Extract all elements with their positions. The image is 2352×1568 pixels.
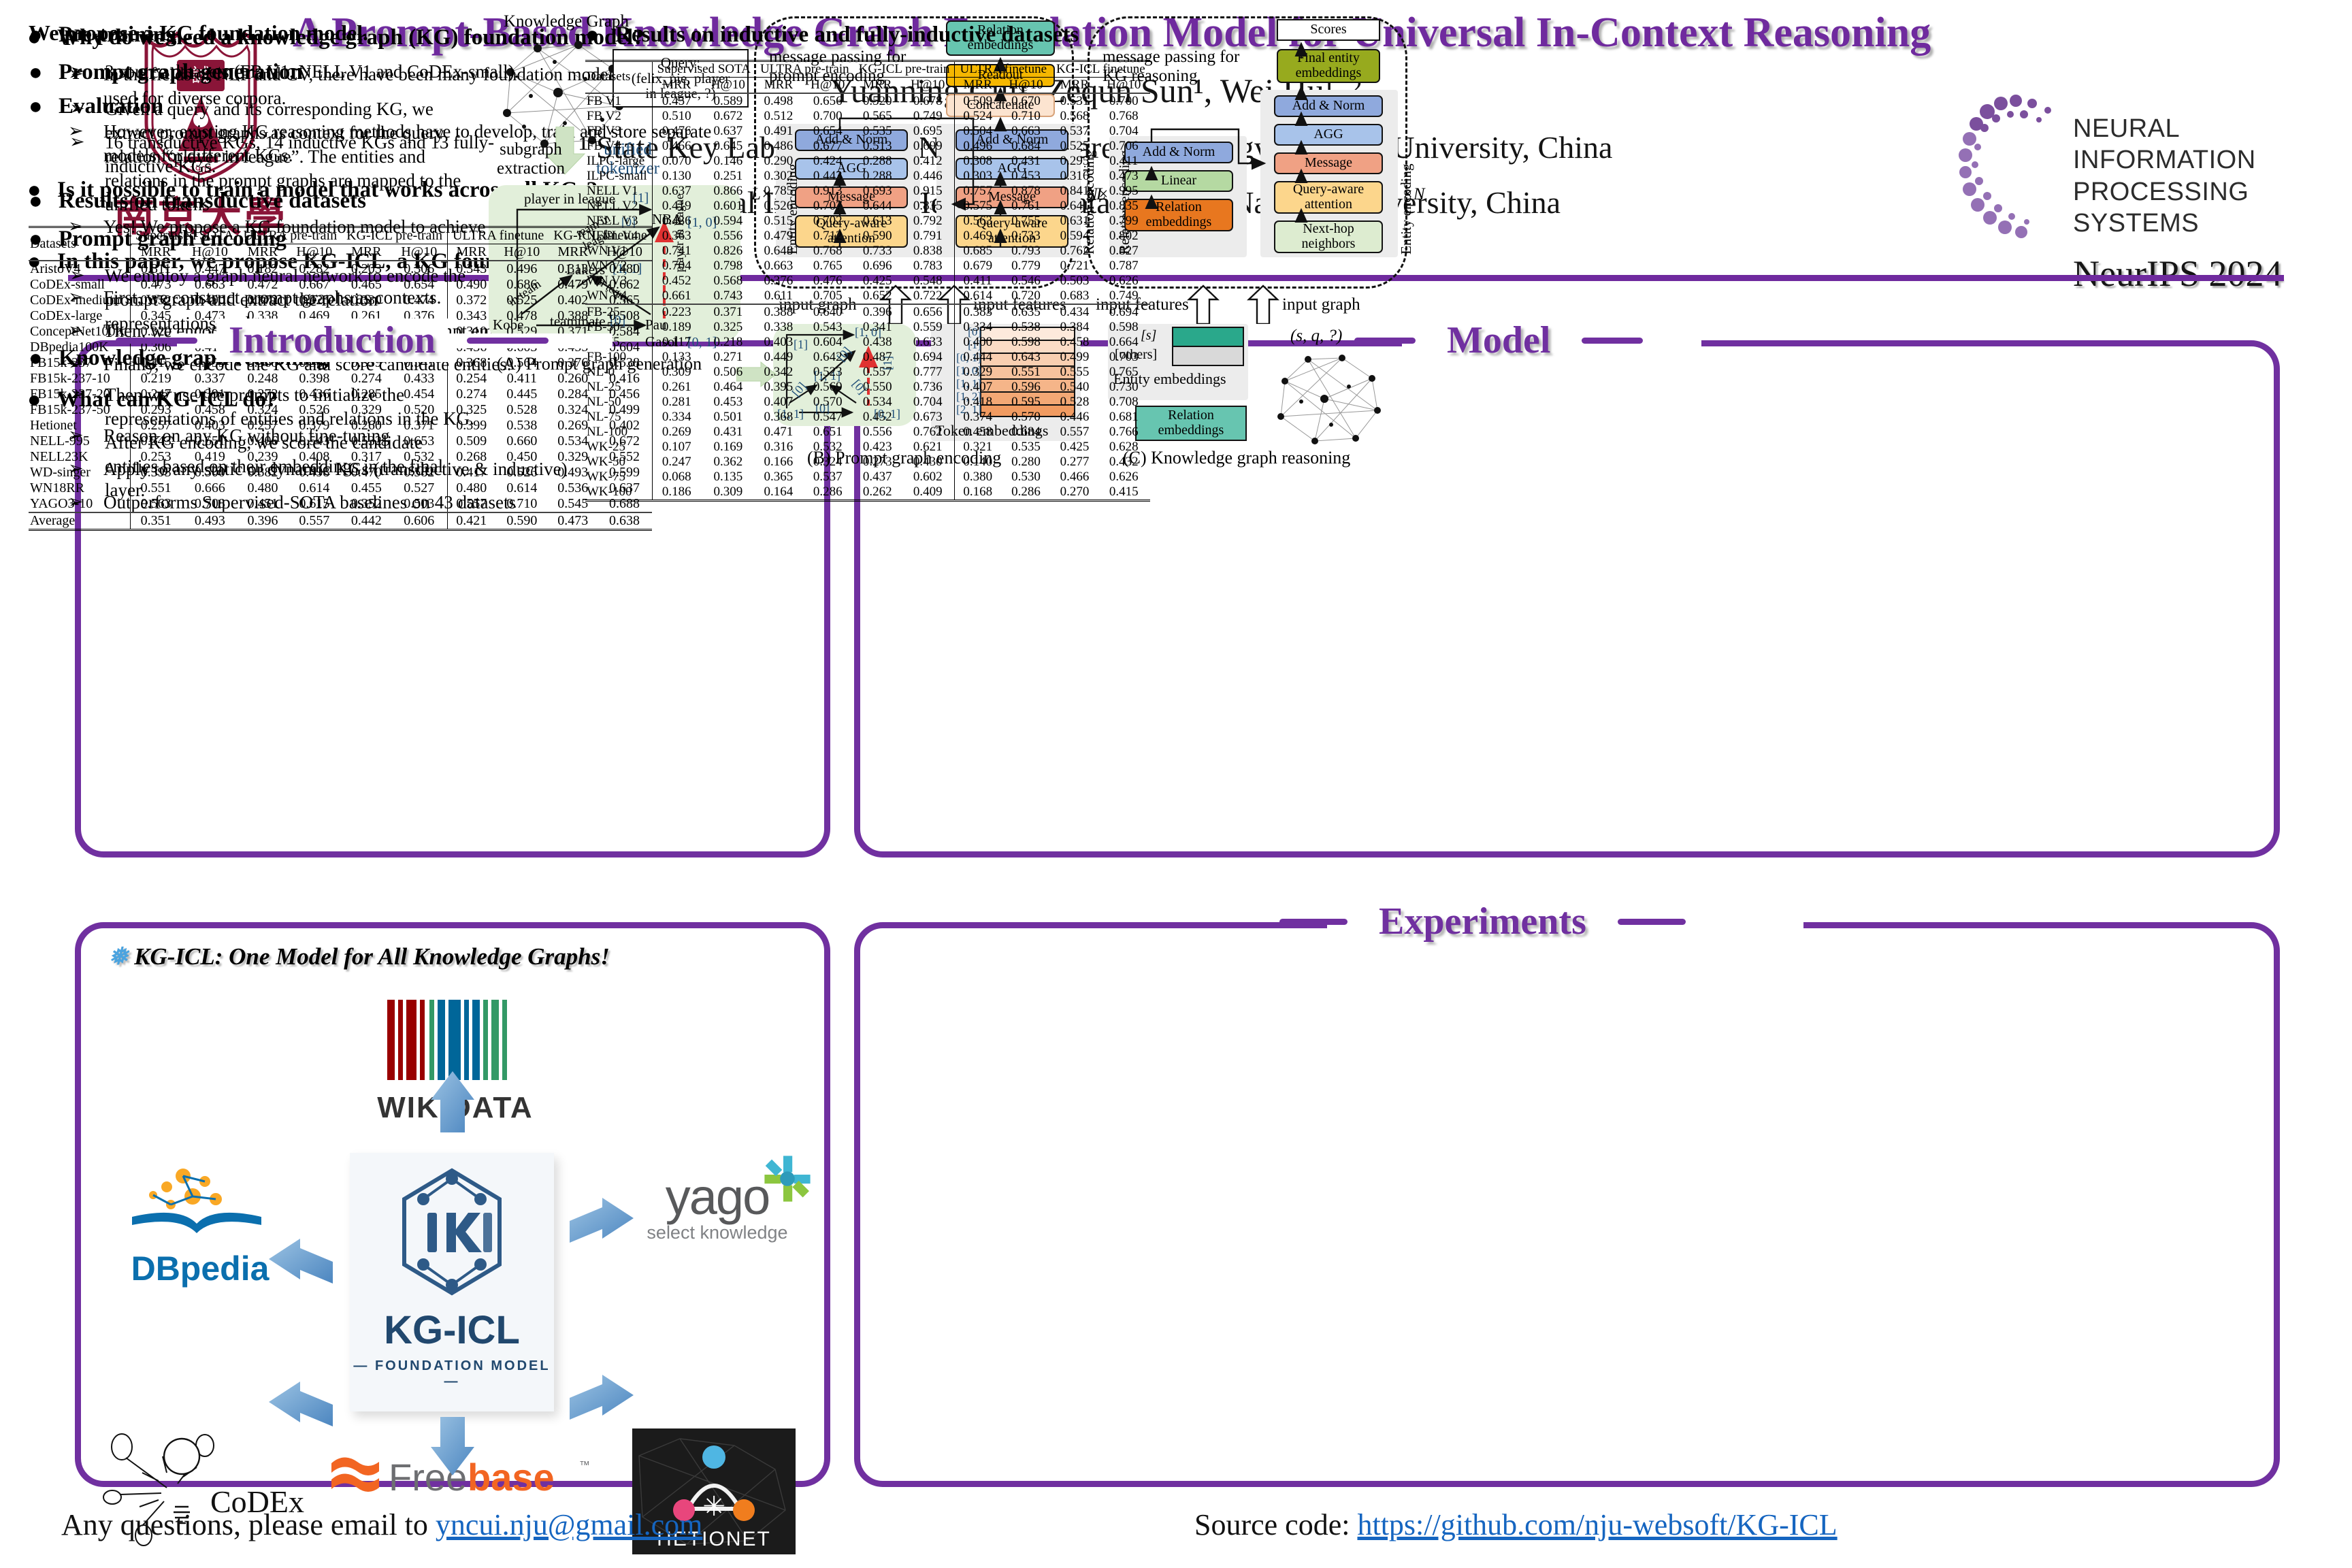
exp-sub-bullet: ➢3 source datasets (FB V1, NELL V1 and C… — [69, 60, 559, 84]
table-cell: 0.667 — [287, 277, 342, 293]
table-row: FB V10.4570.5890.4980.6560.5200.6780.509… — [585, 93, 1150, 109]
neurips-year: NeurIPS 2024 — [2073, 252, 2345, 295]
table-cell: 0.384 — [1051, 320, 1098, 335]
exp-bullet: ●Results on transductive datasets — [29, 188, 559, 215]
experiments-left-column: ●Pre-training ➢3 source datasets (FB V1,… — [29, 22, 559, 531]
table-cell: 0.452 — [854, 410, 901, 425]
table-cell: 0.472 — [239, 277, 287, 293]
table-cell: 0.520 — [391, 402, 448, 418]
table-cell: 0.664 — [1098, 335, 1150, 350]
table-cell: 0.372 — [447, 293, 495, 308]
table-cell: 0.766 — [1098, 425, 1150, 440]
table-cell: 0.654 — [802, 124, 854, 139]
table-cell: 0.835 — [1098, 199, 1150, 214]
table-cell: 0.791 — [901, 229, 955, 244]
table-row: FB15k-237-100.2190.3370.2480.3980.2740.4… — [29, 371, 652, 387]
table-cell: 0.568 — [701, 274, 755, 289]
table-cell: 0.247 — [652, 455, 701, 470]
table-cell: 0.425 — [854, 274, 901, 289]
table-cell: 0.480 — [447, 480, 495, 496]
arrow-bullet-icon: ➢ — [69, 131, 105, 178]
table-cell: 0.615 — [287, 496, 342, 512]
table-cell: 0.645 — [701, 139, 755, 154]
table-cell: 0.686 — [495, 277, 549, 293]
table-cell: 0.500 — [181, 465, 238, 480]
table-cell: 0.504 — [955, 124, 1000, 139]
table-cell: 0.133 — [652, 350, 701, 365]
table-cell: 0.535 — [854, 124, 901, 139]
experiments-heading: Experiments — [1367, 900, 1599, 943]
table-row: FB V30.4760.6370.4910.6540.5350.6950.504… — [585, 124, 1150, 139]
column-group-header: KG-ICL finetune — [1051, 61, 1150, 77]
dbpedia-label: DBpedia — [108, 1249, 292, 1288]
table-cell: 0.419 — [652, 199, 701, 214]
table-cell: 0.798 — [701, 259, 755, 274]
table-cell: 0.596 — [1000, 380, 1051, 395]
table-cell: 0.325 — [701, 320, 755, 335]
table-cell: 0.637 — [701, 124, 755, 139]
table-row: AristoV40.3110.4470.1820.2820.2030.3060.… — [29, 261, 652, 277]
table-cell: 0.548 — [901, 274, 955, 289]
svg-text:™: ™ — [579, 1460, 590, 1471]
table-cell: 0.262 — [854, 485, 901, 501]
row-label: FB-100 — [585, 350, 652, 365]
table-row: Hetionet0.2570.4030.2570.3790.2600.3710.… — [29, 418, 652, 434]
table-cell: 0.169 — [701, 440, 755, 455]
table-cell: 0.288 — [854, 169, 901, 184]
column-group-header: ULTRA pre-train — [239, 227, 342, 244]
table-cell: 0.417 — [447, 465, 495, 480]
table-cell: 0.135 — [701, 470, 755, 485]
table-cell: 0.640 — [802, 304, 854, 320]
table-row: NL-250.2610.4640.3950.5690.5500.7360.407… — [585, 380, 1150, 395]
table-cell: 0.546 — [1000, 274, 1051, 289]
bullet-dot-icon: ● — [29, 93, 59, 120]
column-header-metric: H@10 — [391, 244, 448, 261]
table-cell: 0.396 — [239, 512, 287, 530]
exp-sub-bullet: ➢16 transductive KGs, 14 inductive KGs a… — [69, 131, 559, 178]
table-cell: 0.761 — [1000, 199, 1051, 214]
table-cell: 0.559 — [901, 320, 955, 335]
intro-rule-right — [467, 338, 549, 344]
table-cell: 0.445 — [495, 387, 549, 402]
exp-sub-text: 3 source datasets (FB V1, NELL V1 and Co… — [105, 60, 519, 84]
table-cell: 0.526 — [495, 465, 549, 480]
table-cell: 0.274 — [447, 387, 495, 402]
introduction-heading: Introduction — [216, 318, 448, 362]
table-cell: 0.449 — [755, 350, 802, 365]
table-cell: 0.525 — [1051, 139, 1098, 154]
table-cell: 0.317 — [342, 449, 391, 465]
table-cell: 0.487 — [854, 350, 901, 365]
table-cell: 0.374 — [955, 410, 1000, 425]
table-cell: 0.762 — [1051, 244, 1098, 259]
experiments-panel — [854, 922, 2280, 1487]
table-cell: 0.406 — [239, 434, 287, 449]
transductive-results-table: DatasetsSupervised SOTAULTRA pre-trainKG… — [29, 226, 652, 531]
table-cell: 0.557 — [287, 512, 342, 530]
table-cell: 0.768 — [1098, 109, 1150, 124]
table-cell: 0.334 — [652, 410, 701, 425]
table-cell: 0.503 — [1051, 274, 1098, 289]
column-header-metric: MRR — [239, 244, 287, 261]
row-label: WK-100 — [585, 485, 652, 501]
column-header-metric: MRR — [447, 244, 495, 261]
row-label: NELL V1 — [585, 184, 652, 199]
table-row: NELL23K0.2530.4190.2390.4080.3170.5320.2… — [29, 449, 652, 465]
table-cell: 0.446 — [901, 169, 955, 184]
table-cell: 0.454 — [391, 387, 448, 402]
table-cell: 0.303 — [955, 169, 1000, 184]
table-cell: 0.913 — [802, 184, 854, 199]
column-group-header: Supervised SOTA — [652, 61, 755, 77]
row-label: FB-25 — [585, 304, 652, 320]
table-row: WD-singer0.3930.5000.3820.4980.4700.5820… — [29, 465, 652, 480]
table-cell: 0.785 — [755, 184, 802, 199]
kg-icl-brand: KG-ICL — [350, 1307, 554, 1353]
table-cell: 0.683 — [1051, 289, 1098, 304]
table-cell: 0.254 — [447, 371, 495, 387]
table-cell: 0.594 — [1051, 229, 1098, 244]
table-cell: 0.182 — [239, 261, 287, 277]
exp-bullet: ●Pre-training — [29, 22, 559, 49]
contact-line: Any questions, please email to yncui.nju… — [61, 1507, 702, 1542]
table-cell: 0.710 — [1000, 109, 1051, 124]
row-label: FB V4 — [585, 139, 652, 154]
model-heading: Model — [1435, 318, 1563, 362]
contact-prefix: Any questions, please email to — [61, 1508, 436, 1541]
table-cell: 0.679 — [955, 259, 1000, 274]
table-cell: 0.777 — [901, 365, 955, 380]
table-cell: 0.654 — [391, 277, 448, 293]
table-cell: 0.704 — [652, 259, 701, 274]
table-row: WN18RR0.5510.6660.4800.6140.4550.5270.48… — [29, 480, 652, 496]
table-cell: 0.368 — [755, 410, 802, 425]
table-cell: 0.741 — [652, 244, 701, 259]
table-cell: 0.352 — [130, 293, 181, 308]
table-cell: 0.695 — [901, 124, 955, 139]
table-cell: 0.479 — [755, 229, 802, 244]
table-cell: 0.476 — [652, 124, 701, 139]
table-cell: 0.712 — [802, 229, 854, 244]
table-cell: 0.309 — [701, 485, 755, 501]
column-header-metric: MRR — [130, 244, 181, 261]
table-cell: 0.707 — [802, 199, 854, 214]
table-cell: 0.841 — [1051, 184, 1098, 199]
source-code-link[interactable]: https://github.com/nju-websoft/KG-ICL — [1357, 1508, 1837, 1541]
table-cell: 0.706 — [1098, 139, 1150, 154]
table-cell: 0.334 — [955, 320, 1000, 335]
table-cell: 0.407 — [755, 395, 802, 410]
table-cell: 0.611 — [755, 289, 802, 304]
table-cell: 0.681 — [1098, 410, 1150, 425]
yago-logo: yago select knowledge — [619, 1173, 816, 1289]
table-cell: 0.352 — [342, 496, 391, 512]
table-row: FB-500.1890.3250.3380.5430.3410.5590.334… — [585, 320, 1150, 335]
table-cell: 0.694 — [901, 350, 955, 365]
table-row: WN V10.7410.8260.6480.7680.7330.8380.685… — [585, 244, 1150, 259]
table-row: NELL V10.6370.8660.7850.9130.6930.9150.7… — [585, 184, 1150, 199]
table-cell: 0.140 — [955, 455, 1000, 470]
table-cell: 0.068 — [652, 470, 701, 485]
row-label: WN V1 — [585, 244, 652, 259]
table-row: NELL V40.3630.5560.4790.7120.5900.7910.4… — [585, 229, 1150, 244]
table-cell: 0.281 — [652, 395, 701, 410]
row-label: FB15k-237-10 — [29, 371, 130, 387]
table-cell: 0.421 — [447, 512, 495, 530]
table-cell: 0.186 — [652, 485, 701, 501]
table-cell: 0.223 — [652, 304, 701, 320]
table-cell: 0.506 — [701, 365, 755, 380]
table-cell: 0.575 — [955, 199, 1000, 214]
row-label: FB15k-237-50 — [29, 402, 130, 418]
table-cell: 0.685 — [955, 244, 1000, 259]
table-cell: 0.705 — [802, 289, 854, 304]
table-cell: 0.614 — [287, 480, 342, 496]
table-cell: 0.733 — [854, 244, 901, 259]
table-cell: 0.474 — [391, 293, 448, 308]
table-cell: 0.446 — [1051, 410, 1098, 425]
row-label: FB V1 — [585, 93, 652, 109]
table-cell: 0.203 — [342, 261, 391, 277]
table-cell: 0.590 — [854, 229, 901, 244]
table-cell: 0.436 — [287, 387, 342, 402]
table-cell: 0.594 — [701, 214, 755, 229]
row-label: WN V3 — [585, 274, 652, 289]
neurips-logo: NEURAL INFORMATION PROCESSING SYSTEMS Ne… — [1953, 94, 2334, 264]
table-cell: 0.537 — [802, 470, 854, 485]
table-cell: 0.325 — [447, 402, 495, 418]
exp-bullet-text: Evaluation — [59, 93, 163, 120]
table-cell: 0.651 — [181, 434, 238, 449]
table-cell: 0.704 — [1098, 124, 1150, 139]
table-cell: 0.613 — [854, 214, 901, 229]
svg-text:Free: Free — [389, 1456, 467, 1499]
logo-panel-title-text: KG-ICL: One Model for All Knowledge Grap… — [134, 943, 610, 970]
table-row: NL-00.3090.5060.3420.5230.5570.7770.3290… — [585, 365, 1150, 380]
yago-sublabel: select knowledge — [619, 1222, 816, 1243]
table-cell: 0.656 — [901, 304, 955, 320]
table-cell: 0.490 — [447, 277, 495, 293]
table-cell: 0.538 — [1000, 320, 1051, 335]
table-cell: 0.520 — [854, 93, 901, 109]
experiments-right-column: ●Results on inductive and fully-inductiv… — [585, 22, 1395, 502]
table-cell: 0.540 — [1051, 380, 1098, 395]
table-cell: 0.526 — [287, 402, 342, 418]
table-cell: 0.302 — [755, 169, 802, 184]
column-header-metric: MRR — [955, 77, 1000, 93]
source-prefix: Source code: — [1194, 1508, 1357, 1541]
yago-star-icon — [763, 1154, 812, 1203]
table-cell: 0.189 — [652, 320, 701, 335]
table-cell: 0.641 — [1051, 199, 1098, 214]
table-row: WK-750.0680.1350.3650.5370.4370.6020.380… — [585, 470, 1150, 485]
table-cell: 0.550 — [854, 380, 901, 395]
table-cell: 0.164 — [755, 485, 802, 501]
inductive-results-table: DatasetsSupervised SOTAULTRA pre-trainKG… — [585, 60, 1150, 502]
table-cell: 0.342 — [755, 365, 802, 380]
table-row: NL-1000.2690.4310.4710.6510.5560.7620.45… — [585, 425, 1150, 440]
exp-bullet-text: Results on transductive datasets — [59, 188, 366, 215]
table-cell: 0.329 — [342, 402, 391, 418]
column-group-header: KG-ICL pre-train — [854, 61, 955, 77]
table-cell: 0.070 — [652, 154, 701, 169]
table-row: WK-500.2470.3620.1660.3240.2730.4300.140… — [585, 455, 1150, 470]
table-cell: 0.380 — [955, 470, 1000, 485]
table-cell: 0.700 — [802, 109, 854, 124]
wikidata-label: WIKIDATA — [353, 1091, 557, 1125]
table-cell: 0.419 — [181, 449, 238, 465]
table-cell: 0.493 — [181, 512, 238, 530]
table-cell: 0.415 — [1098, 485, 1150, 501]
table-cell: 0.455 — [342, 480, 391, 496]
table-cell: 0.286 — [802, 485, 854, 501]
table-cell: 0.637 — [652, 184, 701, 199]
table-cell: 0.490 — [181, 293, 238, 308]
kg-icl-subtitle: — FOUNDATION MODEL — — [350, 1358, 554, 1390]
table-cell: 0.626 — [1098, 470, 1150, 485]
table-cell: 0.316 — [1051, 169, 1098, 184]
table-cell: 0.458 — [955, 425, 1000, 440]
table-cell: 0.270 — [1051, 485, 1098, 501]
table-cell: 0.699 — [901, 139, 955, 154]
table-cell: 0.372 — [239, 293, 287, 308]
table-cell: 0.316 — [755, 440, 802, 455]
table-cell: 0.257 — [239, 418, 287, 434]
table-cell: 0.604 — [802, 335, 854, 350]
table-cell: 0.631 — [1051, 214, 1098, 229]
table-cell: 0.602 — [901, 470, 955, 485]
table-cell: 0.802 — [1098, 229, 1150, 244]
table-cell: 0.282 — [287, 261, 342, 277]
poster-footer: Any questions, please email to yncui.nju… — [0, 1507, 2352, 1562]
row-label: FB V3 — [585, 124, 652, 139]
model-rule-right — [1582, 338, 1643, 344]
table-cell: 0.457 — [652, 93, 701, 109]
table-cell: 0.720 — [1000, 289, 1051, 304]
table-cell: 0.379 — [287, 418, 342, 434]
table-cell: 0.512 — [755, 109, 802, 124]
row-label: WK-75 — [585, 470, 652, 485]
table-cell: 0.563 — [130, 496, 181, 512]
table-cell: 0.253 — [130, 449, 181, 465]
table-cell: 0.569 — [802, 380, 854, 395]
table-cell: 0.286 — [1000, 485, 1051, 501]
column-header-metric: MRR — [1051, 77, 1098, 93]
table-cell: 0.458 — [181, 402, 238, 418]
column-header-metric: H@10 — [701, 77, 755, 93]
column-group-header: ULTRA finetune — [447, 227, 549, 244]
table-cell: 0.491 — [755, 124, 802, 139]
table-cell: 0.285 — [342, 387, 391, 402]
table-row: ILPC-large0.0700.1460.2900.4240.2880.412… — [585, 154, 1150, 169]
table-cell: 0.543 — [287, 434, 342, 449]
wikidata-barcode-icon — [353, 996, 557, 1085]
table-cell: 0.436 — [652, 214, 701, 229]
table-cell: 0.453 — [1000, 169, 1051, 184]
table-cell: 0.598 — [1000, 335, 1051, 350]
table-cell: 0.673 — [901, 410, 955, 425]
table-cell: 0.290 — [755, 154, 802, 169]
table-cell: 0.995 — [1098, 184, 1150, 199]
table-cell: 0.444 — [955, 350, 1000, 365]
table-cell: 0.509 — [955, 93, 1000, 109]
table-cell: 0.362 — [701, 455, 755, 470]
table-cell: 0.743 — [701, 289, 755, 304]
row-label: WN18RR — [29, 480, 130, 496]
table-cell: 0.525 — [287, 293, 342, 308]
table-cell: 0.582 — [391, 465, 448, 480]
table-cell: 0.543 — [130, 434, 181, 449]
freebase-logo: Free base ™ — [326, 1445, 598, 1507]
table-cell: 0.398 — [287, 371, 342, 387]
arrow-bullet-icon: ➢ — [69, 60, 105, 84]
table-cell: 0.434 — [1051, 304, 1098, 320]
table-cell: 0.277 — [1051, 455, 1098, 470]
table-cell: 0.309 — [652, 365, 701, 380]
table-cell: 0.451 — [239, 496, 287, 512]
column-header-datasets: Datasets — [585, 61, 652, 93]
table-cell: 0.509 — [447, 434, 495, 449]
neurips-wordmark: NEURAL INFORMATION PROCESSING SYSTEMS Ne… — [2073, 113, 2345, 295]
table-cell: 0.330 — [342, 293, 391, 308]
table-row: WK-1000.1860.3090.1640.2860.2620.4090.16… — [585, 485, 1150, 501]
table-cell: 0.551 — [1000, 365, 1051, 380]
table-cell: 0.722 — [901, 289, 955, 304]
row-label: WN V2 — [585, 259, 652, 274]
table-cell: 0.626 — [1098, 274, 1150, 289]
bullet-dot-icon: ● — [585, 22, 615, 49]
freebase-mark-icon: Free base ™ — [326, 1445, 598, 1507]
model-rule-left — [1354, 338, 1416, 344]
table-cell: 0.710 — [495, 496, 549, 512]
column-header-metric: MRR — [755, 77, 802, 93]
table-cell: 0.403 — [755, 335, 802, 350]
table-cell: 0.496 — [495, 261, 549, 277]
table-cell: 0.409 — [901, 485, 955, 501]
table-cell: 0.470 — [342, 465, 391, 480]
table-cell: 0.411 — [495, 371, 549, 387]
table-row: NELL V30.4360.5940.5150.7020.6130.7920.5… — [585, 214, 1150, 229]
table-cell: 0.570 — [802, 395, 854, 410]
table-cell: 0.431 — [1000, 154, 1051, 169]
row-label: WD-singer — [29, 465, 130, 480]
kg-icl-center-card: KG-ICL — FOUNDATION MODEL — — [350, 1153, 554, 1411]
table-row: WN V30.4520.5680.3760.4760.4250.5480.411… — [585, 274, 1150, 289]
table-cell: 0.557 — [854, 365, 901, 380]
table-cell: 0.527 — [391, 480, 448, 496]
snowflake-icon: ❅ — [108, 943, 128, 970]
row-label: ILPC-large — [585, 154, 652, 169]
table-cell: 0.343 — [447, 261, 495, 277]
table-cell: 0.703 — [1098, 350, 1150, 365]
row-label: ILPC-small — [585, 169, 652, 184]
row-label: WN V4 — [585, 289, 652, 304]
table-cell: 0.666 — [181, 480, 238, 496]
table-cell: 0.642 — [802, 350, 854, 365]
table-cell: 0.219 — [130, 371, 181, 387]
bullet-dot-icon: ● — [29, 22, 59, 49]
dbpedia-mark-icon — [108, 1166, 292, 1248]
table-cell: 0.621 — [901, 440, 955, 455]
table-cell: 0.643 — [1000, 350, 1051, 365]
table-cell: 0.447 — [181, 261, 238, 277]
email-link[interactable]: yncui.nju@gmail.com — [436, 1508, 702, 1541]
table-cell: 0.251 — [701, 169, 755, 184]
table-cell: 0.466 — [1051, 470, 1098, 485]
table-row: FB15k-237-200.2470.3910.2720.4360.2850.4… — [29, 387, 652, 402]
table-cell: 0.239 — [239, 449, 287, 465]
